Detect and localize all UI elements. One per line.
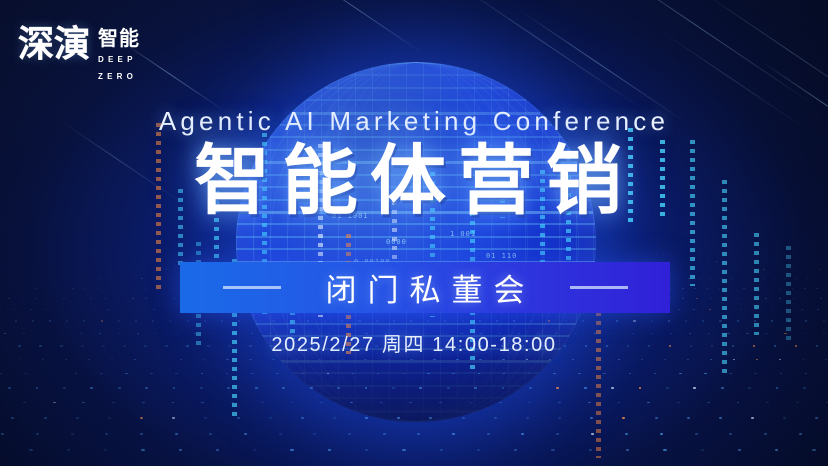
- conference-poster: 01 100100001 0010 001001010001 11010010 …: [0, 0, 828, 466]
- logo-brand-cn-suffix: 智能: [98, 29, 140, 49]
- logo-text-block: 智能 DEEP ZERO: [98, 27, 140, 82]
- english-title: Agentic AI Marketing Conference: [0, 106, 828, 137]
- banner-text: 闭门私董会: [315, 265, 536, 310]
- logo-brand-cn: 深演: [18, 27, 90, 63]
- event-datetime: 2025/2/27 周四 14:00-18:00: [0, 328, 828, 357]
- brand-logo[interactable]: 深演 智能 DEEP ZERO: [18, 27, 140, 82]
- logo-brand-en-line2: ZERO: [98, 71, 140, 83]
- logo-brand-en-line1: DEEP: [98, 54, 140, 66]
- subtitle-banner: 闭门私董会: [180, 262, 670, 313]
- banner-left-rule: [223, 286, 281, 289]
- chinese-title: 智能体营销: [0, 138, 828, 223]
- banner-right-rule: [570, 286, 628, 289]
- globe-bottom-fade: [236, 307, 596, 422]
